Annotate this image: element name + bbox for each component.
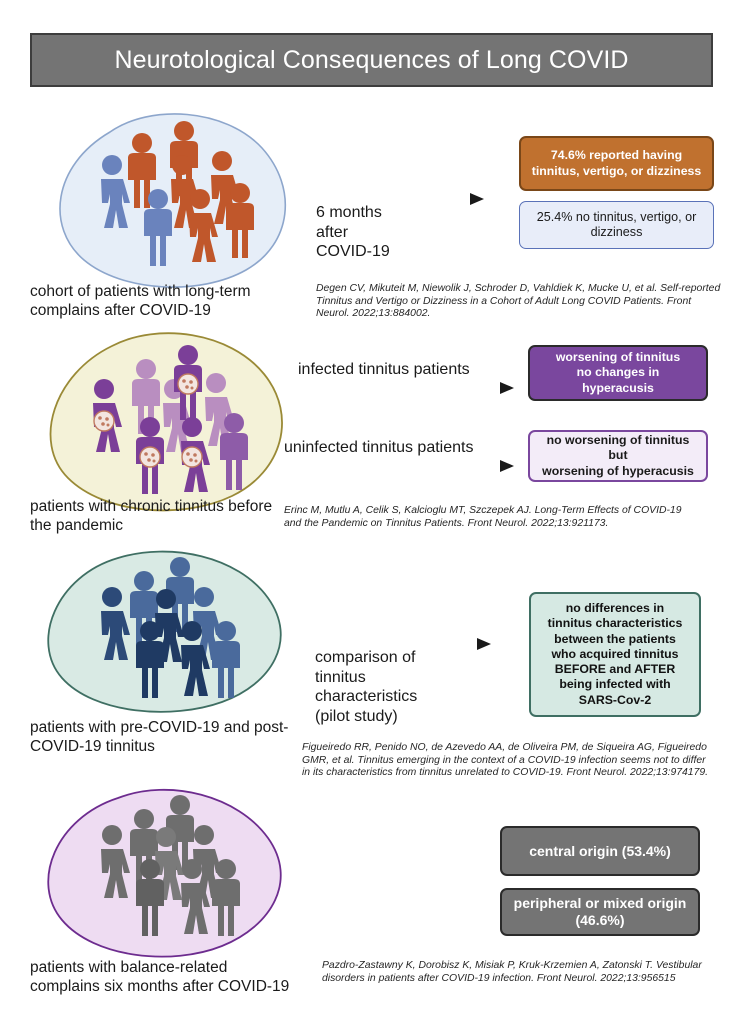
citation-pazdro-zastawny: Pazdro-Zastawny K, Dorobisz K, Misiak P,… — [322, 960, 722, 985]
cohort-blob-balance-related — [32, 788, 304, 966]
citation-degen: Degen CV, Mikuteit M, Niewolik J, Schrod… — [316, 283, 726, 321]
outcome-box-central-origin: central origin (53.4%) — [500, 826, 700, 876]
cohort-blob-pre-post-covid — [32, 550, 304, 722]
citation-figueiredo: Figueiredo RR, Penido NO, de Azevedo AA,… — [302, 742, 714, 780]
cohort-blob-chronic-tinnitus — [34, 330, 304, 520]
page-title: Neurotological Consequences of Long COVI… — [114, 46, 628, 75]
figure-canvas: Neurotological Consequences of Long COVI… — [0, 0, 743, 1028]
person-icon-infected — [84, 378, 124, 452]
person-icon — [180, 188, 220, 262]
person-icon — [92, 154, 132, 228]
figure-title-banner: Neurotological Consequences of Long COVI… — [30, 33, 713, 87]
person-icon — [130, 620, 170, 700]
outcome-box-peripheral-origin: peripheral or mixed origin (46.6%) — [500, 888, 700, 936]
person-icon — [220, 182, 260, 260]
person-icon — [206, 858, 246, 938]
person-icon — [130, 858, 170, 938]
arrow-central-origin — [323, 844, 515, 858]
arrow-label-6-months: 6 months after COVID-19 — [316, 203, 486, 262]
citation-erinc: Erinc M, Mutlu A, Celik S, Kalcioglu MT,… — [284, 505, 699, 530]
person-icon-infected — [168, 344, 208, 422]
people-pictogram-group — [40, 110, 305, 295]
people-pictogram-group — [32, 788, 304, 966]
arrow-label-uninfected: uninfected tinnitus patients — [284, 438, 534, 458]
cohort-blob-long-covid — [40, 110, 305, 295]
outcome-box-no-differences: no differences in tinnitus characteristi… — [529, 592, 701, 717]
outcome-box-tinnitus-reported: 74.6% reported having tinnitus, vertigo,… — [519, 136, 714, 191]
outcome-box-no-tinnitus: 25.4% no tinnitus, vertigo, or dizziness — [519, 201, 714, 249]
person-icon-infected — [172, 416, 212, 492]
person-icon — [206, 620, 246, 700]
people-pictogram-group — [34, 330, 304, 520]
arrow-peripheral-origin — [323, 902, 515, 916]
virus-icon — [178, 374, 198, 394]
arrow-label-comparison: comparison of tinnitus characteristics (… — [315, 648, 495, 726]
person-icon-infected — [130, 416, 170, 496]
cohort-caption-balance-related: patients with balance-related complains … — [30, 958, 292, 996]
arrow-uninfected — [286, 459, 515, 473]
cohort-caption-long-covid: cohort of patients with long-term compla… — [30, 282, 298, 320]
virus-icon — [140, 447, 160, 467]
virus-icon — [182, 447, 202, 467]
person-icon — [214, 412, 254, 492]
cohort-caption-pre-post-covid: patients with pre-COVID-19 and post-COVI… — [30, 718, 302, 756]
person-icon — [92, 586, 132, 660]
outcome-box-worsening-tinnitus: worsening of tinnitus no changes in hype… — [528, 345, 708, 401]
people-pictogram-group — [32, 550, 304, 722]
arrow-infected — [300, 381, 515, 395]
person-icon — [138, 188, 178, 268]
person-icon — [92, 824, 132, 898]
virus-icon — [94, 411, 114, 431]
arrow-label-infected: infected tinnitus patients — [298, 360, 528, 380]
outcome-box-no-worsening-tinnitus: no worsening of tinnitus but worsening o… — [528, 430, 708, 482]
cohort-caption-chronic-tinnitus: patients with chronic tinnitus before th… — [30, 497, 292, 535]
